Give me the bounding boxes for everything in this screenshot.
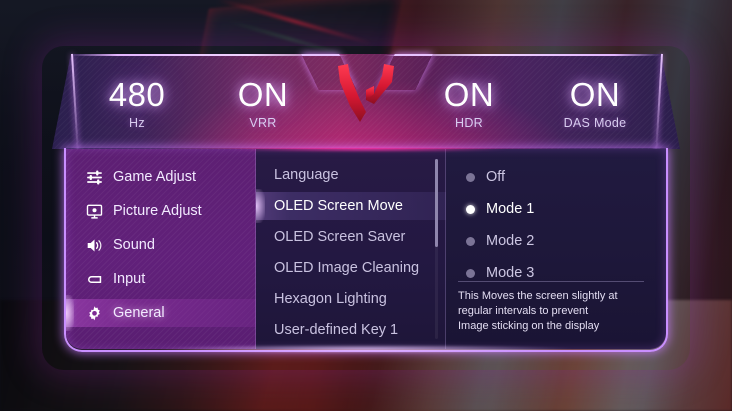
status-label: VRR bbox=[200, 116, 326, 130]
radio-icon bbox=[466, 269, 475, 278]
status-value: ON bbox=[532, 78, 658, 111]
input-plug-icon bbox=[86, 271, 103, 288]
osd-body: Game Adjust Picture Adjust bbox=[66, 149, 666, 349]
submenu-item-label: Hexagon Lighting bbox=[274, 291, 387, 307]
submenu-item-oled-screen-move[interactable]: OLED Screen Move bbox=[256, 192, 446, 220]
option-mode-1[interactable]: Mode 1 bbox=[446, 195, 666, 223]
sidebar-item-label: Sound bbox=[113, 237, 155, 253]
sidebar-item-label: Input bbox=[113, 271, 145, 287]
status-value: ON bbox=[200, 78, 326, 111]
submenu-item-label: Language bbox=[274, 167, 339, 183]
status-refresh-rate: 480 Hz bbox=[74, 78, 200, 130]
option-label: Mode 2 bbox=[486, 233, 534, 249]
lg-ultragear-logo bbox=[330, 60, 402, 126]
options-panel: Off Mode 1 Mode 2 Mode 3 This Moves the … bbox=[446, 149, 666, 349]
submenu-item-label: OLED Image Cleaning bbox=[274, 260, 419, 276]
monitor-gear-icon bbox=[86, 203, 103, 220]
submenu-item-hexagon-lighting[interactable]: Hexagon Lighting bbox=[256, 285, 446, 313]
status-label: Hz bbox=[74, 116, 200, 130]
column-divider bbox=[445, 149, 446, 349]
submenu-item-label: User-defined Key 1 bbox=[274, 322, 398, 338]
radio-icon bbox=[466, 173, 475, 182]
column-divider bbox=[255, 149, 256, 349]
option-label: Mode 1 bbox=[486, 201, 534, 217]
sidebar-item-input[interactable]: Input bbox=[66, 265, 256, 293]
osd-panel: 480 Hz ON VRR ON HDR ON DAS Mode bbox=[52, 54, 680, 362]
header-bottom-pink-glow bbox=[52, 146, 680, 152]
sidebar-item-label: Game Adjust bbox=[113, 169, 196, 185]
sidebar-item-general[interactable]: General bbox=[66, 299, 256, 327]
submenu-item-user-defined-key-1[interactable]: User-defined Key 1 bbox=[256, 316, 446, 344]
option-mode-2[interactable]: Mode 2 bbox=[446, 227, 666, 255]
sidebar-item-sound[interactable]: Sound bbox=[66, 231, 256, 259]
sidebar-item-game-adjust[interactable]: Game Adjust bbox=[66, 163, 256, 191]
submenu-item-label: OLED Screen Saver bbox=[274, 229, 405, 245]
status-label: DAS Mode bbox=[532, 116, 658, 130]
status-das-mode: ON DAS Mode bbox=[532, 78, 658, 130]
sliders-icon bbox=[86, 169, 103, 186]
sidebar-item-label: Picture Adjust bbox=[113, 203, 202, 219]
gear-icon bbox=[86, 305, 103, 322]
status-value: ON bbox=[406, 78, 532, 111]
description-divider bbox=[458, 281, 644, 282]
submenu-item-oled-image-cleaning[interactable]: OLED Image Cleaning bbox=[256, 254, 446, 282]
sidebar-item-picture-adjust[interactable]: Picture Adjust bbox=[66, 197, 256, 225]
speaker-icon bbox=[86, 237, 103, 254]
status-value: 480 bbox=[74, 78, 200, 111]
option-label: Mode 3 bbox=[486, 265, 534, 281]
option-description: This Moves the screen slightly at regula… bbox=[458, 289, 652, 334]
status-vrr: ON VRR bbox=[200, 78, 326, 130]
radio-icon bbox=[466, 237, 475, 246]
submenu-scrollbar-thumb[interactable] bbox=[435, 159, 438, 247]
submenu-item-language[interactable]: Language bbox=[256, 161, 446, 189]
status-label: HDR bbox=[406, 116, 532, 130]
submenu-list: Language OLED Screen Move OLED Screen Sa… bbox=[256, 149, 446, 349]
submenu-item-oled-screen-saver[interactable]: OLED Screen Saver bbox=[256, 223, 446, 251]
submenu-item-label: OLED Screen Move bbox=[274, 198, 403, 214]
option-label: Off bbox=[486, 169, 505, 185]
sidebar-item-label: General bbox=[113, 305, 165, 321]
option-mode-3[interactable]: Mode 3 bbox=[446, 259, 666, 287]
status-hdr: ON HDR bbox=[406, 78, 532, 130]
radio-icon-selected bbox=[466, 205, 475, 214]
option-off[interactable]: Off bbox=[446, 163, 666, 191]
category-list: Game Adjust Picture Adjust bbox=[66, 149, 256, 349]
